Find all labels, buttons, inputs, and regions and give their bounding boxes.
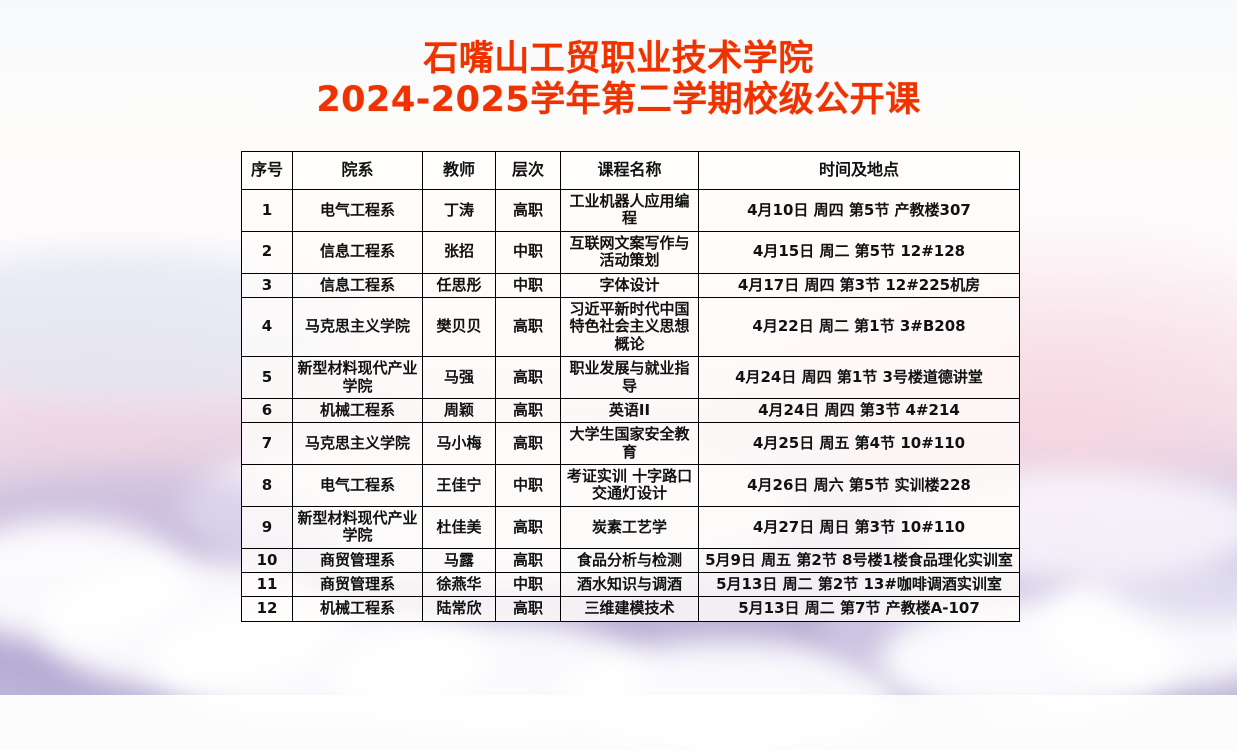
row-level: 高职 bbox=[496, 423, 561, 465]
table-row: 6机械工程系周颖高职英语II4月24日 周四 第3节 4#214 bbox=[242, 398, 1020, 422]
row-teacher: 马强 bbox=[423, 357, 496, 399]
page-title: 石嘴山工贸职业技术学院 2024-2025学年第二学期校级公开课 bbox=[0, 40, 1237, 120]
schedule-table: 序号 院系 教师 层次 课程名称 时间及地点 1电气工程系丁涛高职工业机器人应用… bbox=[241, 151, 1020, 622]
table-row: 2信息工程系张招中职互联网文案写作与活动策划4月15日 周二 第5节 12#12… bbox=[242, 231, 1020, 273]
row-index: 5 bbox=[242, 357, 293, 399]
row-teacher: 马露 bbox=[423, 548, 496, 572]
row-index: 4 bbox=[242, 297, 293, 356]
row-level: 中职 bbox=[496, 231, 561, 273]
table-body: 1电气工程系丁涛高职工业机器人应用编程4月10日 周四 第5节 产教楼3072信… bbox=[242, 190, 1020, 622]
column-header-course: 课程名称 bbox=[561, 152, 699, 190]
row-teacher: 陆常欣 bbox=[423, 597, 496, 621]
table-row: 12机械工程系陆常欣高职三维建模技术5月13日 周二 第7节 产教楼A-107 bbox=[242, 597, 1020, 621]
row-level: 高职 bbox=[496, 506, 561, 548]
table-row: 9新型材料现代产业学院杜佳美高职炭素工艺学4月27日 周日 第3节 10#110 bbox=[242, 506, 1020, 548]
row-time-place: 4月24日 周四 第3节 4#214 bbox=[699, 398, 1020, 422]
row-index: 11 bbox=[242, 573, 293, 597]
row-time-place: 4月17日 周四 第3节 12#225机房 bbox=[699, 273, 1020, 297]
row-course: 互联网文案写作与活动策划 bbox=[561, 231, 699, 273]
row-teacher: 徐燕华 bbox=[423, 573, 496, 597]
row-level: 中职 bbox=[496, 465, 561, 507]
row-department: 信息工程系 bbox=[293, 273, 423, 297]
row-index: 12 bbox=[242, 597, 293, 621]
row-time-place: 4月26日 周六 第5节 实训楼228 bbox=[699, 465, 1020, 507]
row-index: 10 bbox=[242, 548, 293, 572]
table-row: 3信息工程系任思彤中职字体设计4月17日 周四 第3节 12#225机房 bbox=[242, 273, 1020, 297]
table-row: 1电气工程系丁涛高职工业机器人应用编程4月10日 周四 第5节 产教楼307 bbox=[242, 190, 1020, 232]
row-index: 9 bbox=[242, 506, 293, 548]
row-teacher: 丁涛 bbox=[423, 190, 496, 232]
row-course: 食品分析与检测 bbox=[561, 548, 699, 572]
row-department: 马克思主义学院 bbox=[293, 423, 423, 465]
row-time-place: 4月22日 周二 第1节 3#B208 bbox=[699, 297, 1020, 356]
row-time-place: 4月10日 周四 第5节 产教楼307 bbox=[699, 190, 1020, 232]
cloud-blob-puff-7 bbox=[1040, 560, 1237, 690]
row-level: 高职 bbox=[496, 548, 561, 572]
table-row: 4马克思主义学院樊贝贝高职习近平新时代中国特色社会主义思想概论4月22日 周二 … bbox=[242, 297, 1020, 356]
row-course: 字体设计 bbox=[561, 273, 699, 297]
schedule-table-container: 序号 院系 教师 层次 课程名称 时间及地点 1电气工程系丁涛高职工业机器人应用… bbox=[241, 151, 1019, 622]
row-time-place: 5月9日 周五 第2节 8号楼1楼食品理化实训室 bbox=[699, 548, 1020, 572]
row-course: 酒水知识与调酒 bbox=[561, 573, 699, 597]
row-time-place: 5月13日 周二 第7节 产教楼A-107 bbox=[699, 597, 1020, 621]
row-department: 电气工程系 bbox=[293, 465, 423, 507]
row-teacher: 张招 bbox=[423, 231, 496, 273]
row-level: 高职 bbox=[496, 190, 561, 232]
row-department: 机械工程系 bbox=[293, 398, 423, 422]
row-course: 三维建模技术 bbox=[561, 597, 699, 621]
column-header-time-place: 时间及地点 bbox=[699, 152, 1020, 190]
row-level: 高职 bbox=[496, 398, 561, 422]
cloud-blob-puff-1 bbox=[0, 520, 190, 640]
table-row: 11商贸管理系徐燕华中职酒水知识与调酒5月13日 周二 第2节 13#咖啡调酒实… bbox=[242, 573, 1020, 597]
row-teacher: 王佳宁 bbox=[423, 465, 496, 507]
row-department: 商贸管理系 bbox=[293, 573, 423, 597]
row-level: 高职 bbox=[496, 597, 561, 621]
row-index: 6 bbox=[242, 398, 293, 422]
row-department: 马克思主义学院 bbox=[293, 297, 423, 356]
row-time-place: 4月27日 周日 第3节 10#110 bbox=[699, 506, 1020, 548]
table-header: 序号 院系 教师 层次 课程名称 时间及地点 bbox=[242, 152, 1020, 190]
column-header-index: 序号 bbox=[242, 152, 293, 190]
column-header-department: 院系 bbox=[293, 152, 423, 190]
row-department: 电气工程系 bbox=[293, 190, 423, 232]
row-teacher: 马小梅 bbox=[423, 423, 496, 465]
row-department: 机械工程系 bbox=[293, 597, 423, 621]
row-level: 高职 bbox=[496, 357, 561, 399]
row-course: 习近平新时代中国特色社会主义思想概论 bbox=[561, 297, 699, 356]
table-row: 7马克思主义学院马小梅高职大学生国家安全教育4月25日 周五 第4节 10#11… bbox=[242, 423, 1020, 465]
row-index: 3 bbox=[242, 273, 293, 297]
row-index: 2 bbox=[242, 231, 293, 273]
row-course: 炭素工艺学 bbox=[561, 506, 699, 548]
column-header-level: 层次 bbox=[496, 152, 561, 190]
table-row: 8电气工程系王佳宁中职考证实训 十字路口交通灯设计4月26日 周六 第5节 实训… bbox=[242, 465, 1020, 507]
row-course: 职业发展与就业指导 bbox=[561, 357, 699, 399]
row-course: 大学生国家安全教育 bbox=[561, 423, 699, 465]
cloud-blob-violet-right-2 bbox=[1090, 480, 1237, 620]
table-row: 5新型材料现代产业学院马强高职职业发展与就业指导4月24日 周四 第1节 3号楼… bbox=[242, 357, 1020, 399]
row-department: 新型材料现代产业学院 bbox=[293, 506, 423, 548]
cloud-blob-puff-5 bbox=[560, 640, 900, 750]
row-department: 信息工程系 bbox=[293, 231, 423, 273]
row-time-place: 4月24日 周四 第1节 3号楼道德讲堂 bbox=[699, 357, 1020, 399]
cloud-blob-puff-4 bbox=[330, 620, 650, 730]
row-teacher: 杜佳美 bbox=[423, 506, 496, 548]
row-course: 工业机器人应用编程 bbox=[561, 190, 699, 232]
row-department: 商贸管理系 bbox=[293, 548, 423, 572]
row-course: 考证实训 十字路口交通灯设计 bbox=[561, 465, 699, 507]
row-course: 英语II bbox=[561, 398, 699, 422]
column-header-teacher: 教师 bbox=[423, 152, 496, 190]
row-level: 中职 bbox=[496, 573, 561, 597]
row-teacher: 周颖 bbox=[423, 398, 496, 422]
row-time-place: 5月13日 周二 第2节 13#咖啡调酒实训室 bbox=[699, 573, 1020, 597]
row-teacher: 樊贝贝 bbox=[423, 297, 496, 356]
row-time-place: 4月25日 周五 第4节 10#110 bbox=[699, 423, 1020, 465]
row-time-place: 4月15日 周二 第5节 12#128 bbox=[699, 231, 1020, 273]
table-row: 10商贸管理系马露高职食品分析与检测5月9日 周五 第2节 8号楼1楼食品理化实… bbox=[242, 548, 1020, 572]
row-level: 中职 bbox=[496, 273, 561, 297]
row-level: 高职 bbox=[496, 297, 561, 356]
row-teacher: 任思彤 bbox=[423, 273, 496, 297]
title-line-term: 2024-2025学年第二学期校级公开课 bbox=[0, 81, 1237, 120]
row-index: 1 bbox=[242, 190, 293, 232]
title-line-school: 石嘴山工贸职业技术学院 bbox=[0, 40, 1237, 79]
table-header-row: 序号 院系 教师 层次 课程名称 时间及地点 bbox=[242, 152, 1020, 190]
row-index: 8 bbox=[242, 465, 293, 507]
row-department: 新型材料现代产业学院 bbox=[293, 357, 423, 399]
row-index: 7 bbox=[242, 423, 293, 465]
